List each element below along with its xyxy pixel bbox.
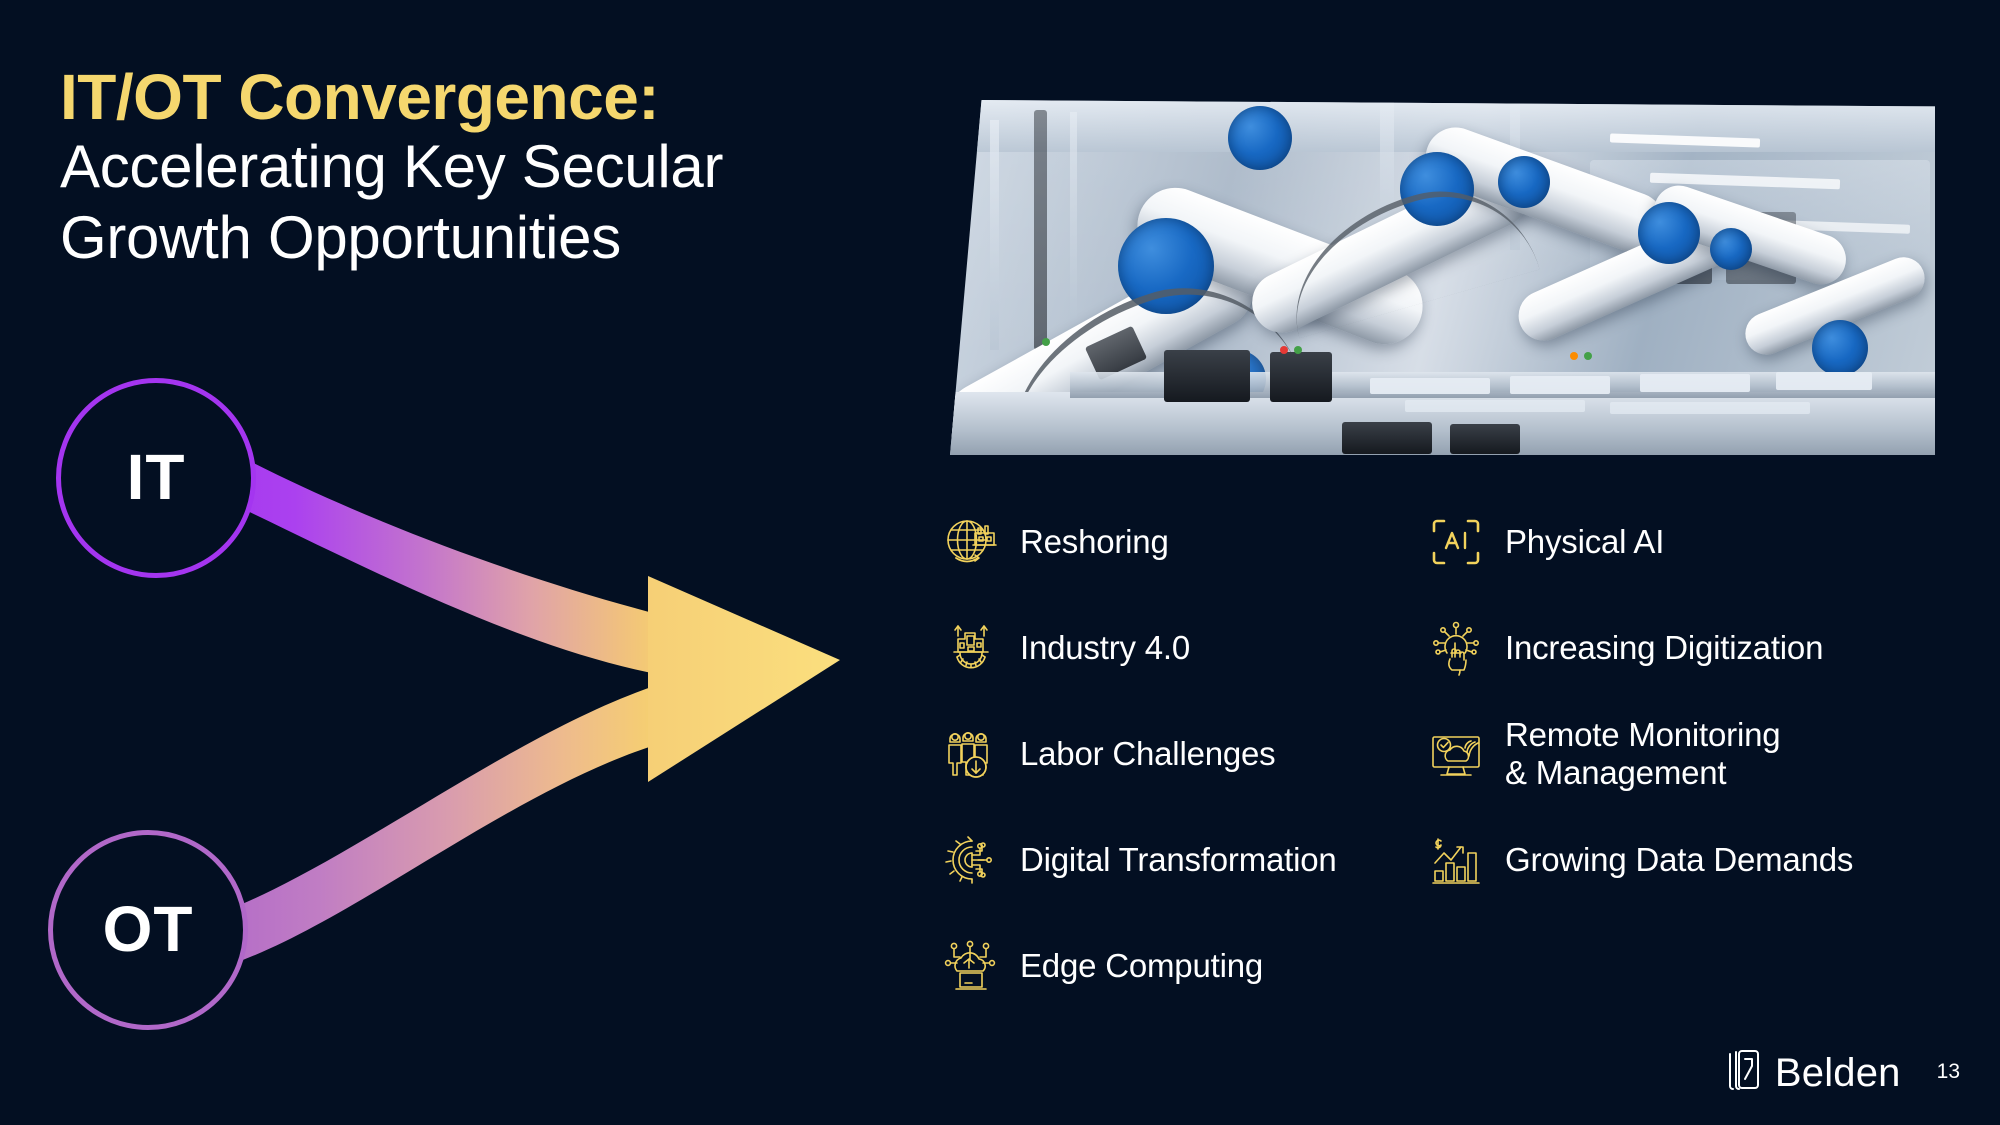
ai-bracket-icon	[1425, 511, 1487, 573]
list-item[interactable]: Remote Monitoring & Management	[1425, 712, 1945, 796]
title-line-secondary: Accelerating Key Secular	[60, 132, 960, 203]
growth-opportunity-lists: Reshoring	[940, 500, 1950, 1020]
lightbulb-touch-circuit-icon	[1425, 617, 1487, 679]
footer: Belden 13	[1725, 1048, 1960, 1097]
list-item-label: Remote Monitoring & Management	[1505, 716, 1780, 792]
list-item[interactable]: Reshoring	[940, 500, 1410, 584]
list-item-label: Physical AI	[1505, 523, 1664, 561]
arrow-band-it	[186, 438, 680, 678]
node-ot-label: OT	[103, 897, 194, 961]
node-ot[interactable]: OT	[48, 830, 248, 1030]
page-title: IT/OT Convergence: Accelerating Key Secu…	[60, 62, 960, 274]
node-it-label: IT	[127, 445, 186, 509]
factory-robots-photo-content	[950, 100, 1935, 455]
list-item[interactable]: Digital Transformation	[940, 818, 1410, 902]
title-line-primary: IT/OT Convergence:	[60, 62, 960, 132]
list-item-label: Edge Computing	[1020, 947, 1263, 985]
list-item-label: Industry 4.0	[1020, 629, 1190, 667]
list-item[interactable]: Labor Challenges	[940, 712, 1410, 796]
monitor-cloud-signal-icon	[1425, 723, 1487, 785]
feature-column-right: Physical AI	[1425, 500, 1945, 924]
node-it[interactable]: IT	[56, 378, 256, 578]
list-item-label: Labor Challenges	[1020, 735, 1275, 773]
feature-column-left: Reshoring	[940, 500, 1410, 1030]
title-line-tertiary: Growth Opportunities	[60, 203, 960, 274]
factory-gear-icon	[940, 617, 1002, 679]
list-item[interactable]: Industry 4.0	[940, 606, 1410, 690]
gear-circuit-icon	[940, 829, 1002, 891]
brand-name: Belden	[1775, 1053, 1901, 1093]
list-item-label: Increasing Digitization	[1505, 629, 1823, 667]
list-item-label: Growing Data Demands	[1505, 841, 1853, 879]
factory-robots-photo	[950, 100, 1935, 455]
list-item[interactable]: Growing Data Demands	[1425, 818, 1945, 902]
list-item-label: Reshoring	[1020, 523, 1169, 561]
slide-canvas: IT/OT Convergence: Accelerating Key Secu…	[0, 0, 2000, 1125]
list-item[interactable]: Physical AI	[1425, 500, 1945, 584]
page-number: 13	[1937, 1061, 1960, 1084]
arrow-band-ot	[198, 678, 680, 970]
cloud-network-server-icon	[940, 935, 1002, 997]
bar-chart-growth-icon	[1425, 829, 1487, 891]
globe-factory-icon	[940, 511, 1002, 573]
belden-layers-icon	[1725, 1048, 1765, 1097]
list-item-label: Digital Transformation	[1020, 841, 1337, 879]
list-item[interactable]: Increasing Digitization	[1425, 606, 1945, 690]
list-item[interactable]: Edge Computing	[940, 924, 1410, 1008]
arrow-head	[648, 576, 840, 782]
workers-down-arrow-icon	[940, 723, 1002, 785]
